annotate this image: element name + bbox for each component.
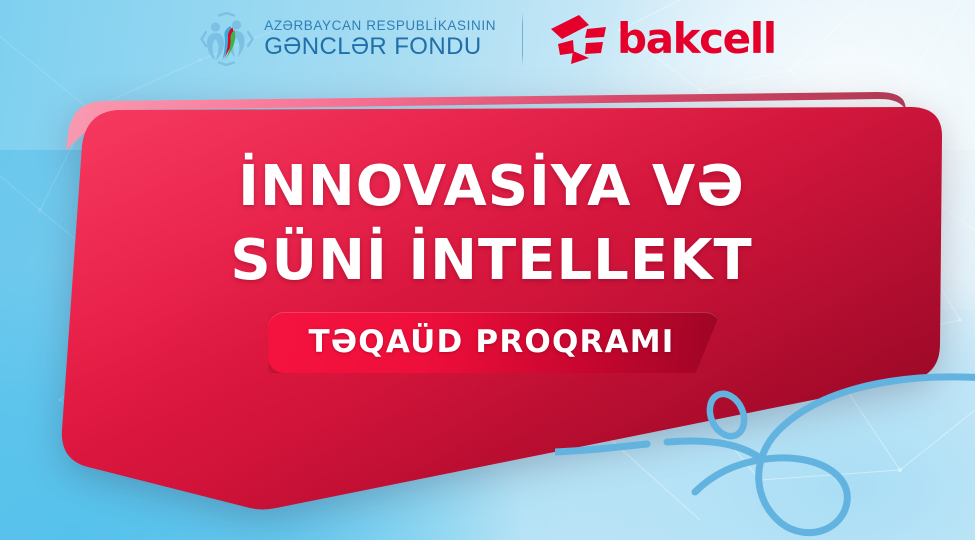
program-badge: TƏQAÜD PROQRAMI <box>268 312 720 373</box>
two-people-flag-icon <box>199 12 255 66</box>
foundation-line-1: AZƏRBAYCAN RESPUBLİKASININ <box>264 19 496 33</box>
badge-row: TƏQAÜD PROQRAMI <box>8 312 975 373</box>
foundation-line-2: GƏNCLƏR FONDU <box>264 35 496 59</box>
logo-header: AZƏRBAYCAN RESPUBLİKASININ GƏNCLƏR FONDU <box>0 8 975 70</box>
title-block: İNNOVASİYA VƏ SÜNİ İNTELLEKT TƏQAÜD PROQ… <box>0 150 975 373</box>
logo-divider <box>522 12 523 66</box>
bakcell-wordmark: bakcell <box>617 18 776 60</box>
bakcell-shards-icon <box>549 13 607 65</box>
title-line-2: SÜNİ İNTELLEKT <box>8 224 975 298</box>
azerbaijan-youth-foundation-logo[interactable]: AZƏRBAYCAN RESPUBLİKASININ GƏNCLƏR FONDU <box>199 12 496 66</box>
title-line-1: İNNOVASİYA VƏ <box>8 150 975 224</box>
bakcell-logo[interactable]: bakcell <box>549 13 776 65</box>
youth-foundation-wordmark: AZƏRBAYCAN RESPUBLİKASININ GƏNCLƏR FONDU <box>264 19 496 60</box>
promo-banner: AZƏRBAYCAN RESPUBLİKASININ GƏNCLƏR FONDU <box>0 0 975 540</box>
